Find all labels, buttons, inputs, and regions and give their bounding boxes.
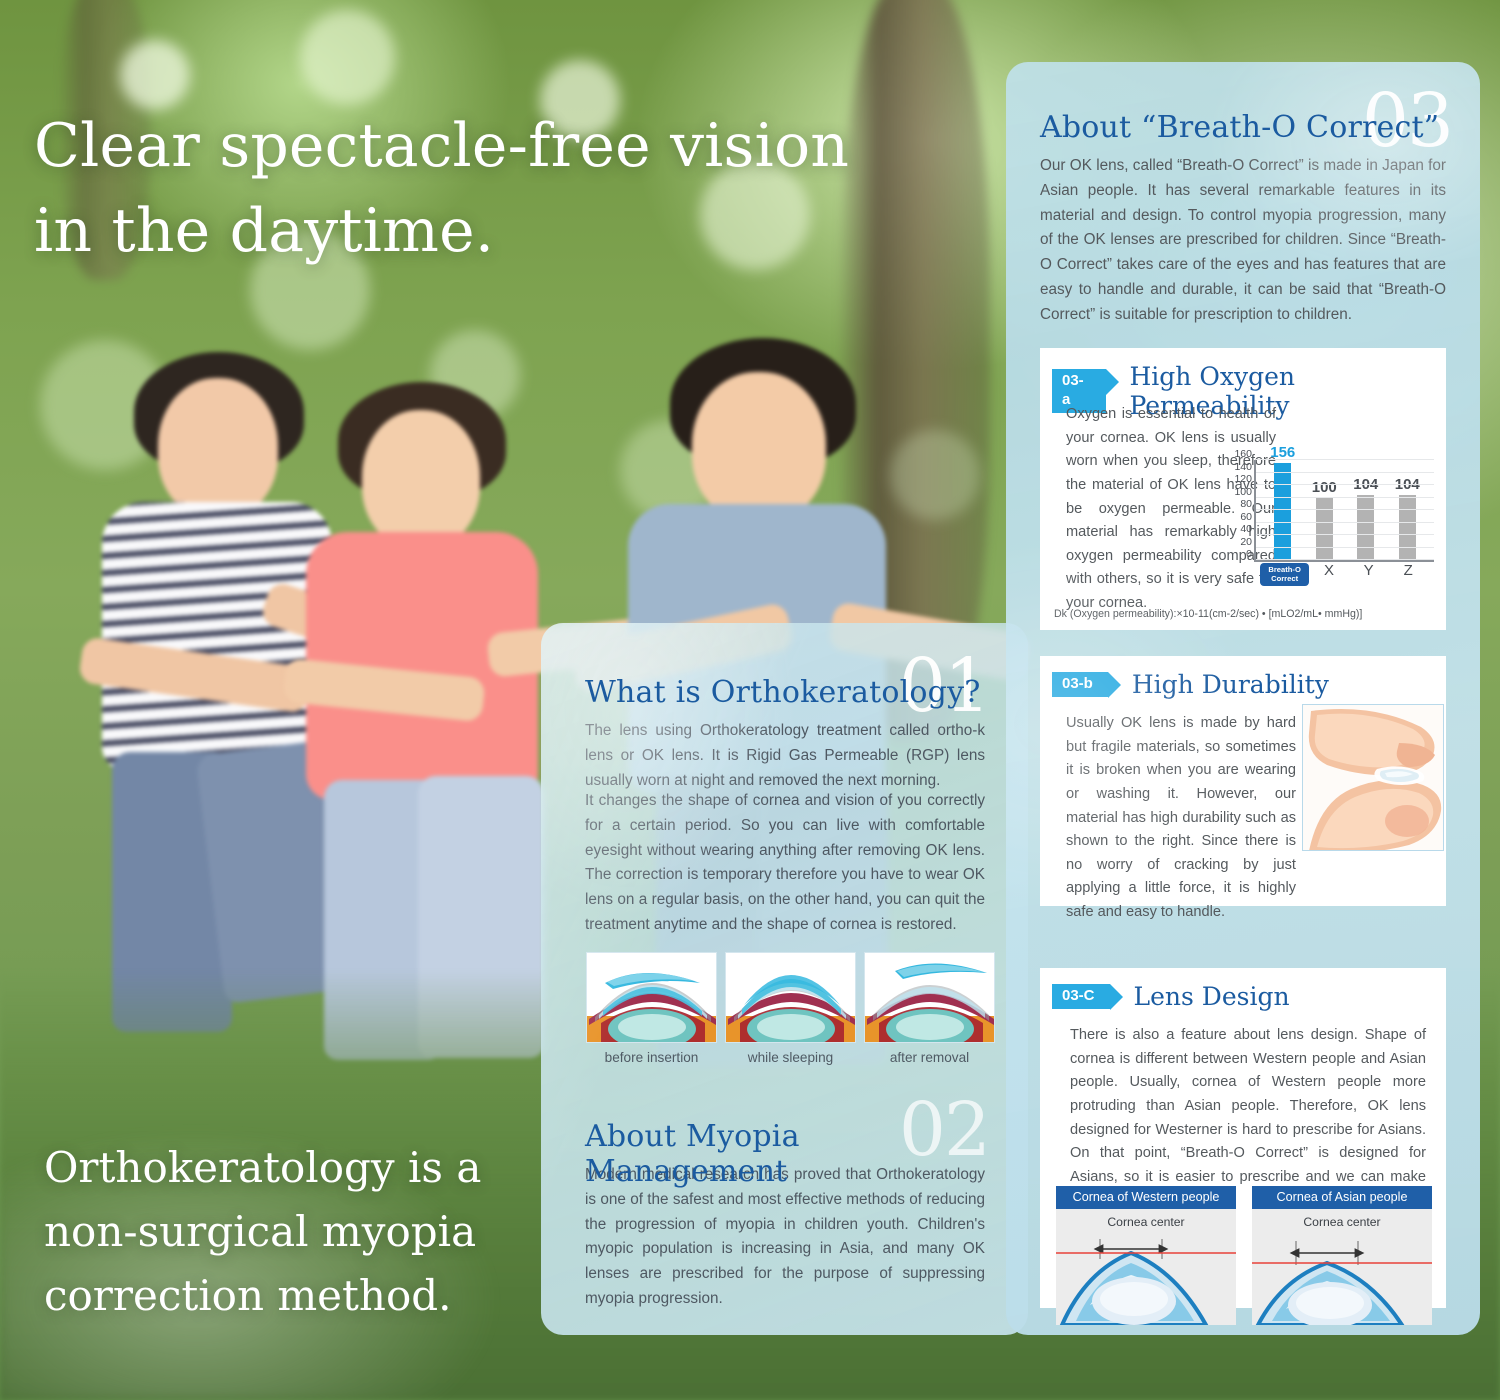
card-c-title: Lens Design <box>1134 982 1290 1011</box>
eye-cross-section-icon <box>865 953 995 1043</box>
chart-y-tick-label: 160 <box>1234 448 1252 460</box>
panel-breath-o-correct: 03 About “Breath-O Correct” Our OK lens,… <box>1006 62 1480 1335</box>
chart-bar-column: 104 <box>1387 460 1429 560</box>
cornea-asian-header: Cornea of Asian people <box>1252 1186 1432 1209</box>
cornea-western-header: Cornea of Western people <box>1056 1186 1236 1209</box>
card-b-header: 03-b High Durability <box>1040 656 1446 699</box>
card-b-title: High Durability <box>1132 670 1329 699</box>
cornea-western: Cornea of Western people Cornea center <box>1056 1186 1236 1325</box>
page-tagline: Orthokeratology is a non-surgical myopia… <box>44 1136 604 1327</box>
chart-bar-column: 156 <box>1262 460 1304 560</box>
section-01-paragraph-1: The lens using Orthokeratology treatment… <box>585 719 985 793</box>
chart-bar <box>1274 463 1291 561</box>
cornea-asian-figure: Cornea center <box>1252 1209 1432 1325</box>
photo-bokeh <box>300 10 395 105</box>
eye-cross-section-icon <box>587 953 717 1043</box>
panel-orthokeratology: 01 What is Orthokeratology? The lens usi… <box>541 623 1028 1335</box>
chart-bar-column: 100 <box>1304 460 1346 560</box>
section-01-title: What is Orthokeratology? <box>585 675 981 710</box>
chart-x-axis-labels: Breath-O CorrectXYZ <box>1254 562 1434 586</box>
eye-diagram-row: before insertion while sleeping <box>586 952 995 1065</box>
eye-diagram-before-insertion: before insertion <box>586 952 717 1065</box>
card-high-durability: 03-b High Durability Usually OK lens is … <box>1040 656 1446 906</box>
eye-diagram-caption: after removal <box>864 1050 995 1065</box>
cornea-western-label: Cornea center <box>1056 1215 1236 1229</box>
durability-photo <box>1302 704 1444 851</box>
chart-x-tick-label: Breath-O Correct <box>1260 563 1309 586</box>
chart-y-tick-label: 120 <box>1234 473 1252 485</box>
chart-x-tick-label: X <box>1309 562 1349 579</box>
chart-y-tick-label: 0 <box>1246 548 1252 560</box>
section-01-heading: 01 What is Orthokeratology? <box>585 675 985 710</box>
badge-03c: 03-C <box>1052 984 1110 1010</box>
page-headline: Clear spectacle-free vision in the dayti… <box>34 104 854 274</box>
eye-cross-section-icon <box>726 953 856 1043</box>
section-02-heading: 02 About Myopia Management <box>585 1119 985 1189</box>
cornea-asian: Cornea of Asian people Cornea center <box>1252 1186 1432 1325</box>
badge-03b: 03-b <box>1052 672 1108 698</box>
chart-y-tick-label: 40 <box>1240 523 1252 535</box>
card-lens-design: 03-C Lens Design There is also a feature… <box>1040 968 1446 1308</box>
chart-bar <box>1357 495 1374 560</box>
card-b-paragraph: Usually OK lens is made by hard but frag… <box>1066 712 1296 925</box>
oxygen-permeability-chart: 156100104104 020406080100120140160 Breat… <box>1220 446 1434 586</box>
chart-x-tick-label: Z <box>1388 562 1428 579</box>
card-high-oxygen-permeability: 03-a High Oxygen Permeability Oxygen is … <box>1040 348 1446 630</box>
chart-gridline <box>1256 472 1434 473</box>
chart-y-tick-label: 100 <box>1234 486 1252 498</box>
chart-gridline <box>1256 534 1434 535</box>
chart-y-tick-label: 80 <box>1240 498 1252 510</box>
card-c-header: 03-C Lens Design <box>1040 968 1446 1011</box>
chart-bar-value-label: 100 <box>1312 479 1337 496</box>
photo-bokeh <box>120 40 190 110</box>
chart-footnote: Dk (Oxygen permeability):×10-11(cm-2/sec… <box>1054 608 1362 620</box>
section-03-heading: 03 About “Breath-O Correct” <box>1040 110 1450 145</box>
chart-bar-column: 104 <box>1345 460 1387 560</box>
eye-diagram-caption: while sleeping <box>725 1050 856 1065</box>
chart-bar-value-label: 156 <box>1270 444 1295 461</box>
eye-figure <box>586 952 717 1043</box>
section-03-title: About “Breath-O Correct” <box>1040 110 1439 145</box>
eye-diagram-after-removal: after removal <box>864 952 995 1065</box>
eye-diagram-caption: before insertion <box>586 1050 717 1065</box>
fingers-pinching-lens-icon <box>1303 705 1444 851</box>
chart-bars: 156100104104 <box>1256 460 1434 560</box>
chart-gridline <box>1256 522 1434 523</box>
chart-y-tick-label: 140 <box>1234 461 1252 473</box>
eye-figure <box>725 952 856 1043</box>
section-01-paragraph-2: It changes the shape of cornea and visio… <box>585 789 985 938</box>
cornea-comparison: Cornea of Western people Cornea center <box>1056 1186 1432 1325</box>
chart-gridline <box>1256 509 1434 510</box>
chart-gridline <box>1256 547 1434 548</box>
chart-gridline <box>1256 559 1434 560</box>
chart-gridline <box>1256 497 1434 498</box>
chart-gridline <box>1256 484 1434 485</box>
cornea-asian-label: Cornea center <box>1252 1215 1432 1229</box>
chart-y-tick-label: 60 <box>1240 511 1252 523</box>
chart-plot-area: 156100104104 020406080100120140160 <box>1254 460 1434 562</box>
chart-bar <box>1316 498 1333 561</box>
eye-diagram-while-sleeping: while sleeping <box>725 952 856 1065</box>
chart-x-tick-label: Y <box>1349 562 1389 579</box>
card-c-paragraph: There is also a feature about lens desig… <box>1070 1024 1426 1213</box>
chart-gridline <box>1256 459 1434 460</box>
eye-figure <box>864 952 995 1043</box>
section-02-title: About Myopia Management <box>585 1119 985 1189</box>
chart-y-tick-label: 20 <box>1240 536 1252 548</box>
chart-bar <box>1399 495 1416 560</box>
cornea-western-figure: Cornea center <box>1056 1209 1236 1325</box>
section-03-paragraph: Our OK lens, called “Breath-O Correct” i… <box>1040 154 1446 327</box>
